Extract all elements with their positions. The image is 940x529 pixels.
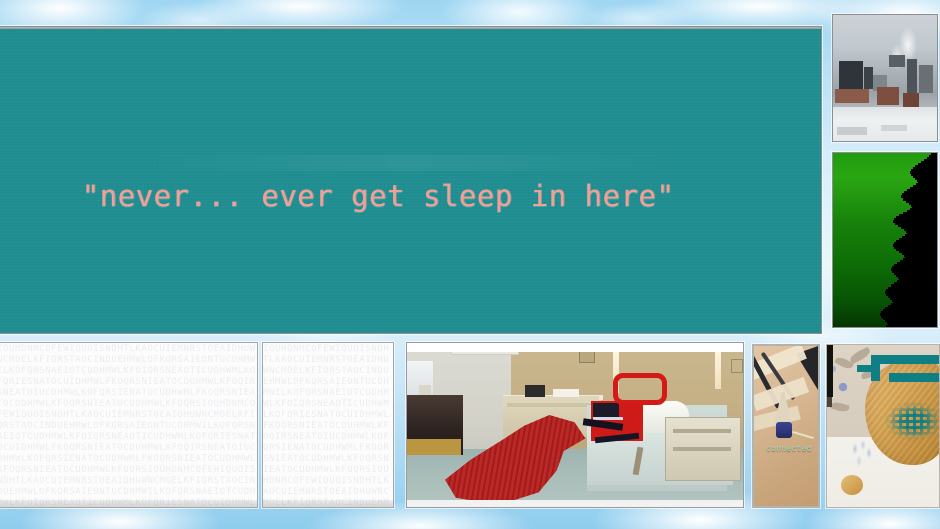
building-block [864,67,873,89]
brick-building [877,87,899,105]
photo-top-band [407,343,743,352]
black-silhouette-shape [879,153,937,327]
hospital-room-photo[interactable] [406,342,744,508]
panel-bottom-shadow [263,500,393,507]
snowy-cityscape-photo[interactable] [832,14,938,142]
quote-text: "never... ever get sleep in here" [0,179,758,213]
desk-phone [525,385,545,397]
teal-bar-overlay [889,373,940,382]
bed-rail-bar [673,447,731,451]
building-block [907,59,917,93]
log-text-panel-right[interactable]: IOUHDNMCOFEWIQUOISNDHTLKAOCUIEMNRSTOEAID… [262,342,394,508]
log-text-panel-left[interactable]: IOUHDNMCOFEWIQUOISNDHTLKAOCUIEMNRSTOEAID… [0,342,258,508]
table-lamp [419,385,431,395]
brick-building [903,93,919,107]
background-character-texture: IOUHDNMCOFEWIQUOISNDHTLKAOCUIEMNRSTOEAID… [263,343,393,507]
wall-light [715,349,721,389]
panel-bottom-shadow [0,500,257,507]
catheter-hub [776,422,792,438]
papers [553,389,579,397]
silhouette-row [883,327,937,328]
left-edge-dark-strip [827,397,832,407]
wall-plate [731,359,743,373]
teal-bar-overlay [857,365,873,372]
building-block [839,61,863,89]
brick-building [835,89,869,103]
faint-smudge [148,155,668,171]
bed-rail-bar [673,429,731,433]
snow-mound [881,125,907,131]
building-block [919,65,933,93]
photo-bottom-band [407,500,743,507]
embroidered-sprig [849,441,879,471]
connected-overlay-label: connected [758,444,820,453]
left-edge-dark-strip [827,345,833,397]
background-character-texture: IOUHDNMCOFEWIQUOISNDHTLKAOCUIEMNRSTOEAID… [0,343,257,507]
teal-bar-overlay [871,355,940,364]
iv-catheter-photo[interactable]: connected [752,344,820,508]
snow-foreground [833,107,937,141]
teal-pixel-cluster [885,401,940,441]
armchair-base [407,439,461,455]
hair-bun [841,475,863,495]
snow-mound [837,127,867,135]
green-gradient-silhouette-panel[interactable] [832,152,938,328]
figure-dark-patch [593,403,619,417]
red-halo-outline [613,373,667,405]
building-block [889,55,905,67]
floral-hair-illustration-panel[interactable] [826,344,940,508]
desk-rail [507,403,597,407]
quote-panel[interactable]: "never... ever get sleep in here" [0,26,822,334]
